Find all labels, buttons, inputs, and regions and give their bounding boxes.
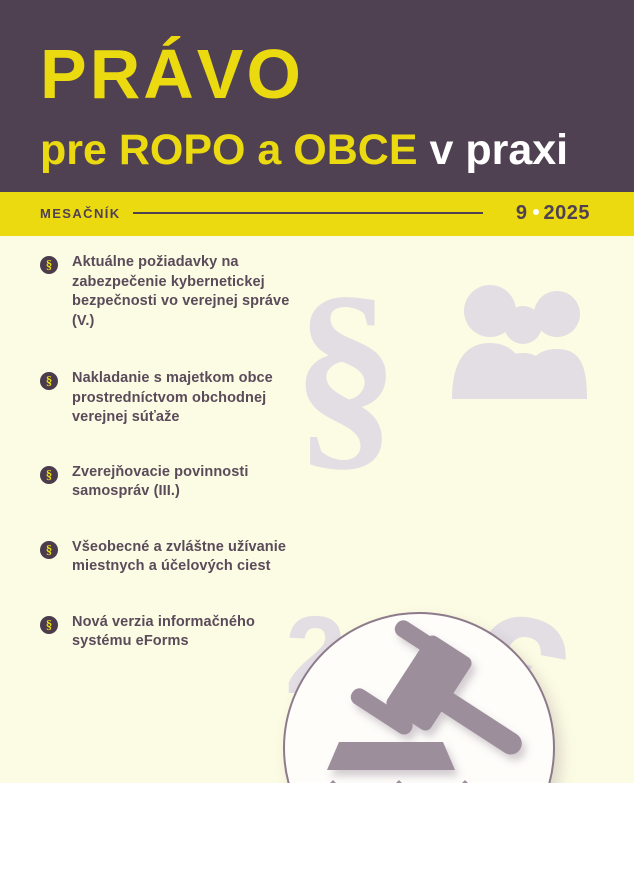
issue-band: MESAČNÍK 92025 [0,192,634,236]
section-sign-icon: § [40,541,58,559]
article-title: Všeobecné a zvláštne užívanie miestnych … [72,538,290,577]
list-item[interactable]: § Nakladanie s majetkom obce prostredníc… [40,369,290,428]
cover-footer: Wolters Kluwer www.ropoaobce.sk [0,783,634,885]
page-subtitle: pre ROPO a OBCE v praxi [40,126,568,174]
cover-header: PRÁVO pre ROPO a OBCE v praxi [0,0,634,192]
sounding-block [327,742,455,770]
people-group-icon [452,281,587,404]
issue-year: 2025 [544,202,591,224]
cover-body: § 2 4 € [0,236,634,783]
section-sign-watermark: § [292,276,400,466]
section-sign-icon: § [40,616,58,634]
section-sign-icon: § [40,372,58,390]
list-item[interactable]: § Nová verzia informačného systému eForm… [40,613,290,652]
list-item[interactable]: § Aktuálne požiadavky na zabezpečenie ky… [40,253,290,331]
section-sign-icon: § [40,256,58,274]
periodicity-label: MESAČNÍK [40,206,121,221]
subtitle-plain: v praxi [429,126,568,174]
issue-separator-dot [533,209,539,215]
list-item[interactable]: § Zverejňovacie povinnosti samospráv (II… [40,463,290,502]
article-title: Zverejňovacie povinnosti samospráv (III.… [72,463,290,502]
article-title: Nakladanie s majetkom obce prostredníctv… [72,369,290,428]
article-title: Nová verzia informačného systému eForms [72,613,290,652]
section-sign-icon: § [40,466,58,484]
cover-illustration [283,612,555,783]
issue-number: 9 [516,202,528,224]
article-title: Aktuálne požiadavky na zabezpečenie kybe… [72,253,290,331]
page-title: PRÁVO [40,39,304,109]
band-divider [133,212,483,214]
list-item[interactable]: § Všeobecné a zvláštne užívanie miestnyc… [40,538,290,577]
contents-list: § Aktuálne požiadavky na zabezpečenie ky… [40,253,290,682]
issue-designation: 92025 [516,202,590,225]
magazine-cover: PRÁVO pre ROPO a OBCE v praxi MESAČNÍK 9… [0,0,634,885]
subtitle-highlight: pre ROPO a OBCE [40,126,418,174]
